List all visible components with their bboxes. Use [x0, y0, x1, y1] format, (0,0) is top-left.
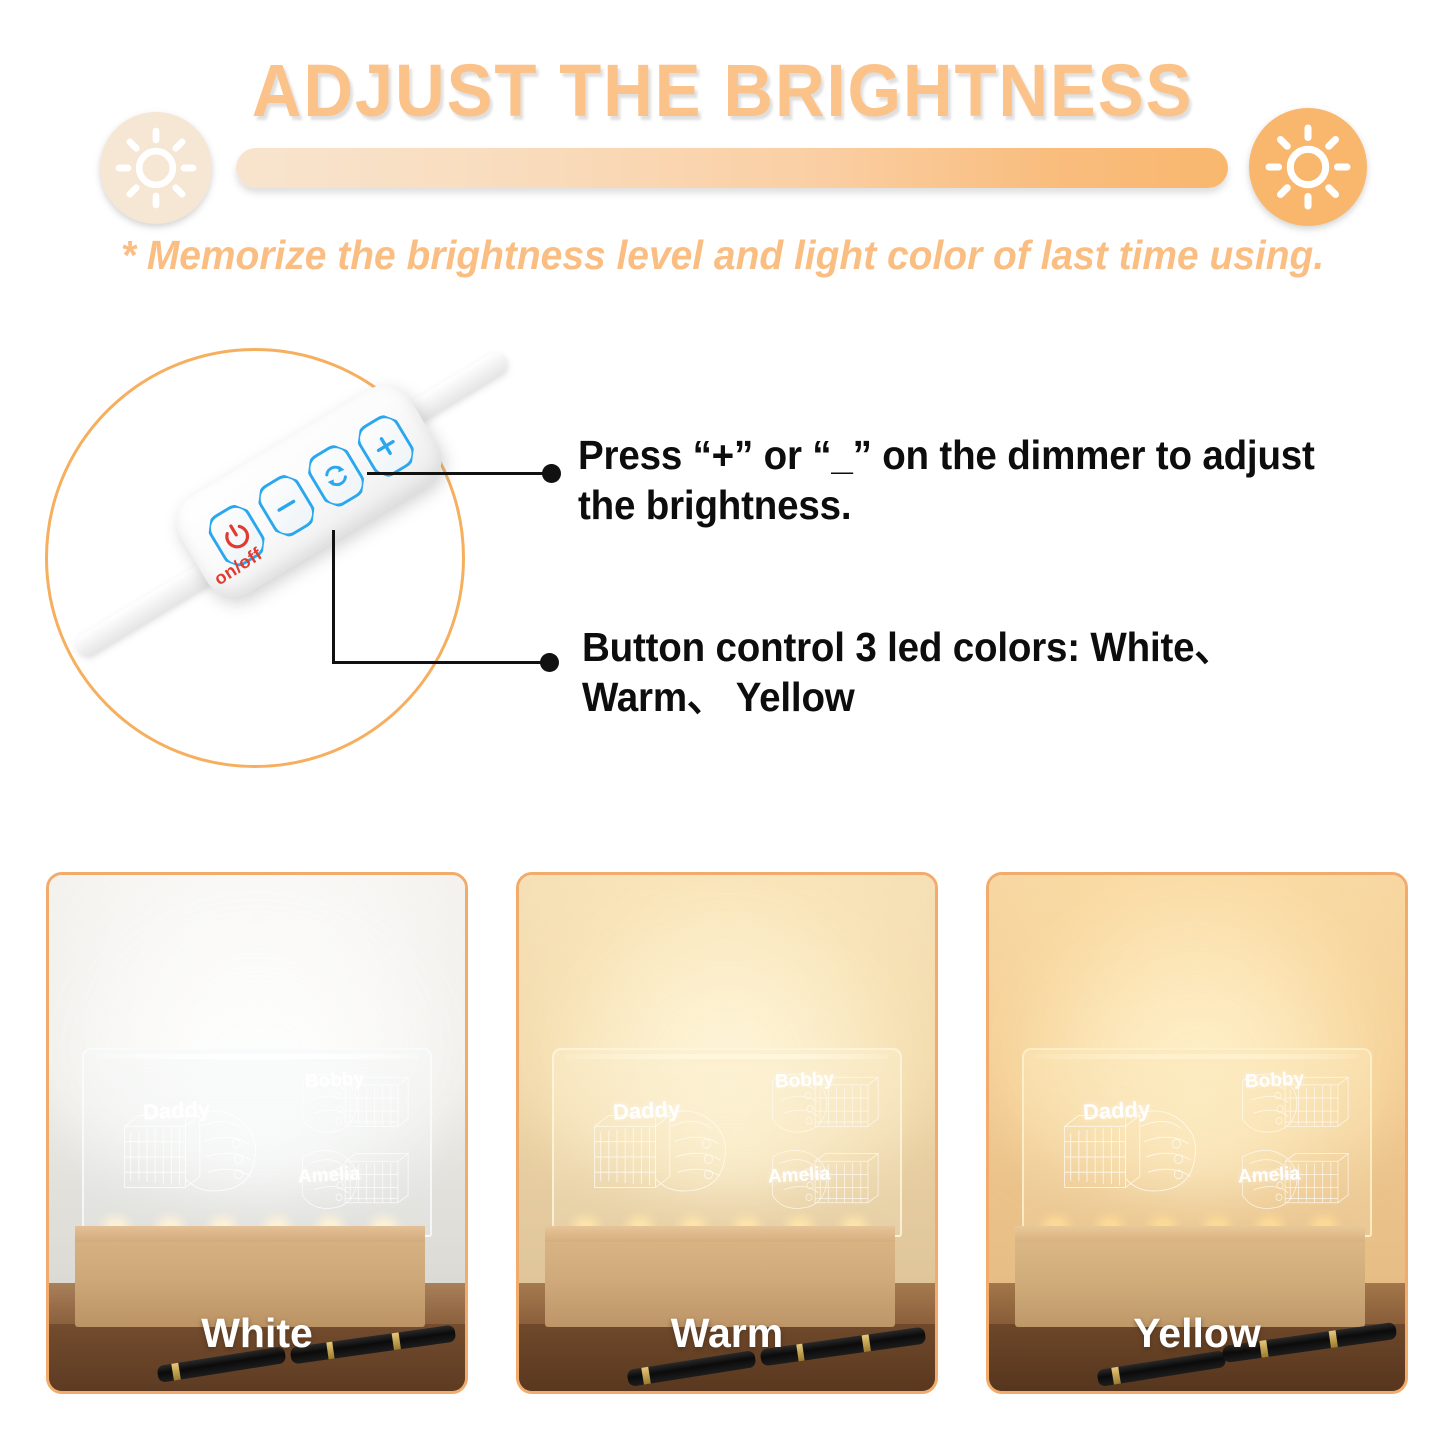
pen-band — [642, 1367, 651, 1385]
led-color-panels: Daddy Bobby Amelia — [0, 872, 1445, 1400]
acrylic-plate: Daddy Bobby Amelia — [552, 1048, 901, 1237]
fist-wireframes — [554, 1050, 899, 1235]
leader-dot-brightness — [542, 464, 561, 483]
engraved-name-amelia: Amelia — [1238, 1163, 1301, 1188]
infographic-page: ADJUST THE BRIGHTNESS — [0, 0, 1445, 1445]
leader-dot-color — [540, 653, 559, 672]
night-lamp: Daddy Bobby Amelia — [552, 1048, 901, 1327]
sun-bright-icon — [1249, 108, 1367, 226]
cycle-arrows-icon — [316, 455, 357, 496]
base-top-face — [545, 1226, 894, 1242]
pen-band — [1112, 1367, 1121, 1385]
engraved-fists — [554, 1050, 899, 1235]
engraved-name-amelia: Amelia — [768, 1163, 831, 1188]
engraved-name-bobby: Bobby — [775, 1069, 835, 1094]
fist-wireframes — [1024, 1050, 1369, 1235]
leader-line-brightness — [367, 472, 552, 475]
acrylic-plate: Daddy Bobby Amelia — [1022, 1048, 1371, 1237]
panel-warm: Daddy Bobby Amelia — [516, 872, 938, 1394]
night-lamp: Daddy Bobby Amelia — [82, 1048, 431, 1327]
engraved-name-bobby: Bobby — [1245, 1069, 1305, 1094]
panel-yellow: Daddy Bobby Amelia — [986, 872, 1408, 1394]
minus-button[interactable] — [252, 469, 321, 542]
callout-color-text: Button control 3 led colors: White、 Warm… — [582, 622, 1381, 722]
fist-wireframes — [84, 1050, 429, 1235]
acrylic-plate: Daddy Bobby Amelia — [82, 1048, 431, 1237]
pen-band — [172, 1363, 181, 1381]
night-lamp: Daddy Bobby Amelia — [1022, 1048, 1371, 1327]
panel-label-yellow: Yellow — [989, 1310, 1405, 1357]
callout-brightness-text: Press “+” or “_” on the dimmer to adjust… — [578, 430, 1368, 530]
memorize-note: * Memorize the brightness level and ligh… — [36, 232, 1409, 279]
panel-white: Daddy Bobby Amelia — [46, 872, 468, 1394]
engraved-name-amelia: Amelia — [298, 1163, 361, 1188]
engraved-name-daddy: Daddy — [612, 1096, 681, 1125]
engraved-name-daddy: Daddy — [142, 1096, 211, 1125]
panel-label-white: White — [49, 1310, 465, 1357]
engraved-name-bobby: Bobby — [305, 1069, 365, 1094]
sun-dim-icon — [100, 112, 212, 224]
page-title: ADJUST THE BRIGHTNESS — [51, 48, 1395, 133]
color-cycle-button[interactable] — [301, 439, 370, 512]
brightness-slider[interactable] — [236, 148, 1228, 188]
dimmer-callout-section: on/off Press “+” or “_” on the dimmer to… — [0, 330, 1445, 820]
engraved-name-daddy: Daddy — [1082, 1096, 1151, 1125]
panel-label-warm: Warm — [519, 1310, 935, 1357]
leader-line-color-vertical — [332, 530, 335, 664]
engraved-fists — [1024, 1050, 1369, 1235]
leader-line-color-horizontal — [332, 661, 550, 664]
base-top-face — [75, 1226, 424, 1242]
minus-icon — [266, 485, 307, 526]
engraved-fists — [84, 1050, 429, 1235]
base-top-face — [1015, 1226, 1364, 1242]
plus-icon — [365, 425, 406, 466]
